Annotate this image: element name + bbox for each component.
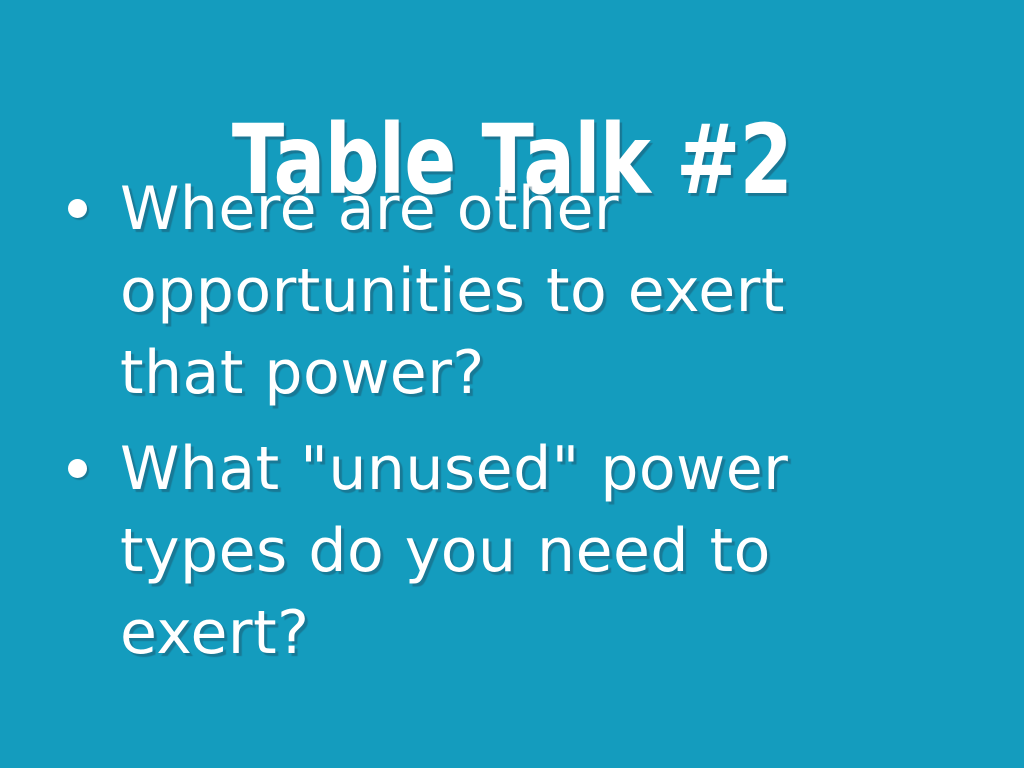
bullet-dot-icon bbox=[68, 199, 87, 218]
list-item-label: What "unused" power types do you need to… bbox=[120, 428, 910, 674]
bullet-list: Where are other opportunities to exert t… bbox=[58, 168, 958, 688]
list-item: What "unused" power types do you need to… bbox=[58, 428, 958, 674]
list-item: Where are other opportunities to exert t… bbox=[58, 168, 958, 414]
presentation-slide: Table Talk #2 Where are other opportunit… bbox=[0, 0, 1024, 768]
bullet-dot-icon bbox=[68, 459, 87, 478]
list-item-label: Where are other opportunities to exert t… bbox=[120, 168, 910, 414]
